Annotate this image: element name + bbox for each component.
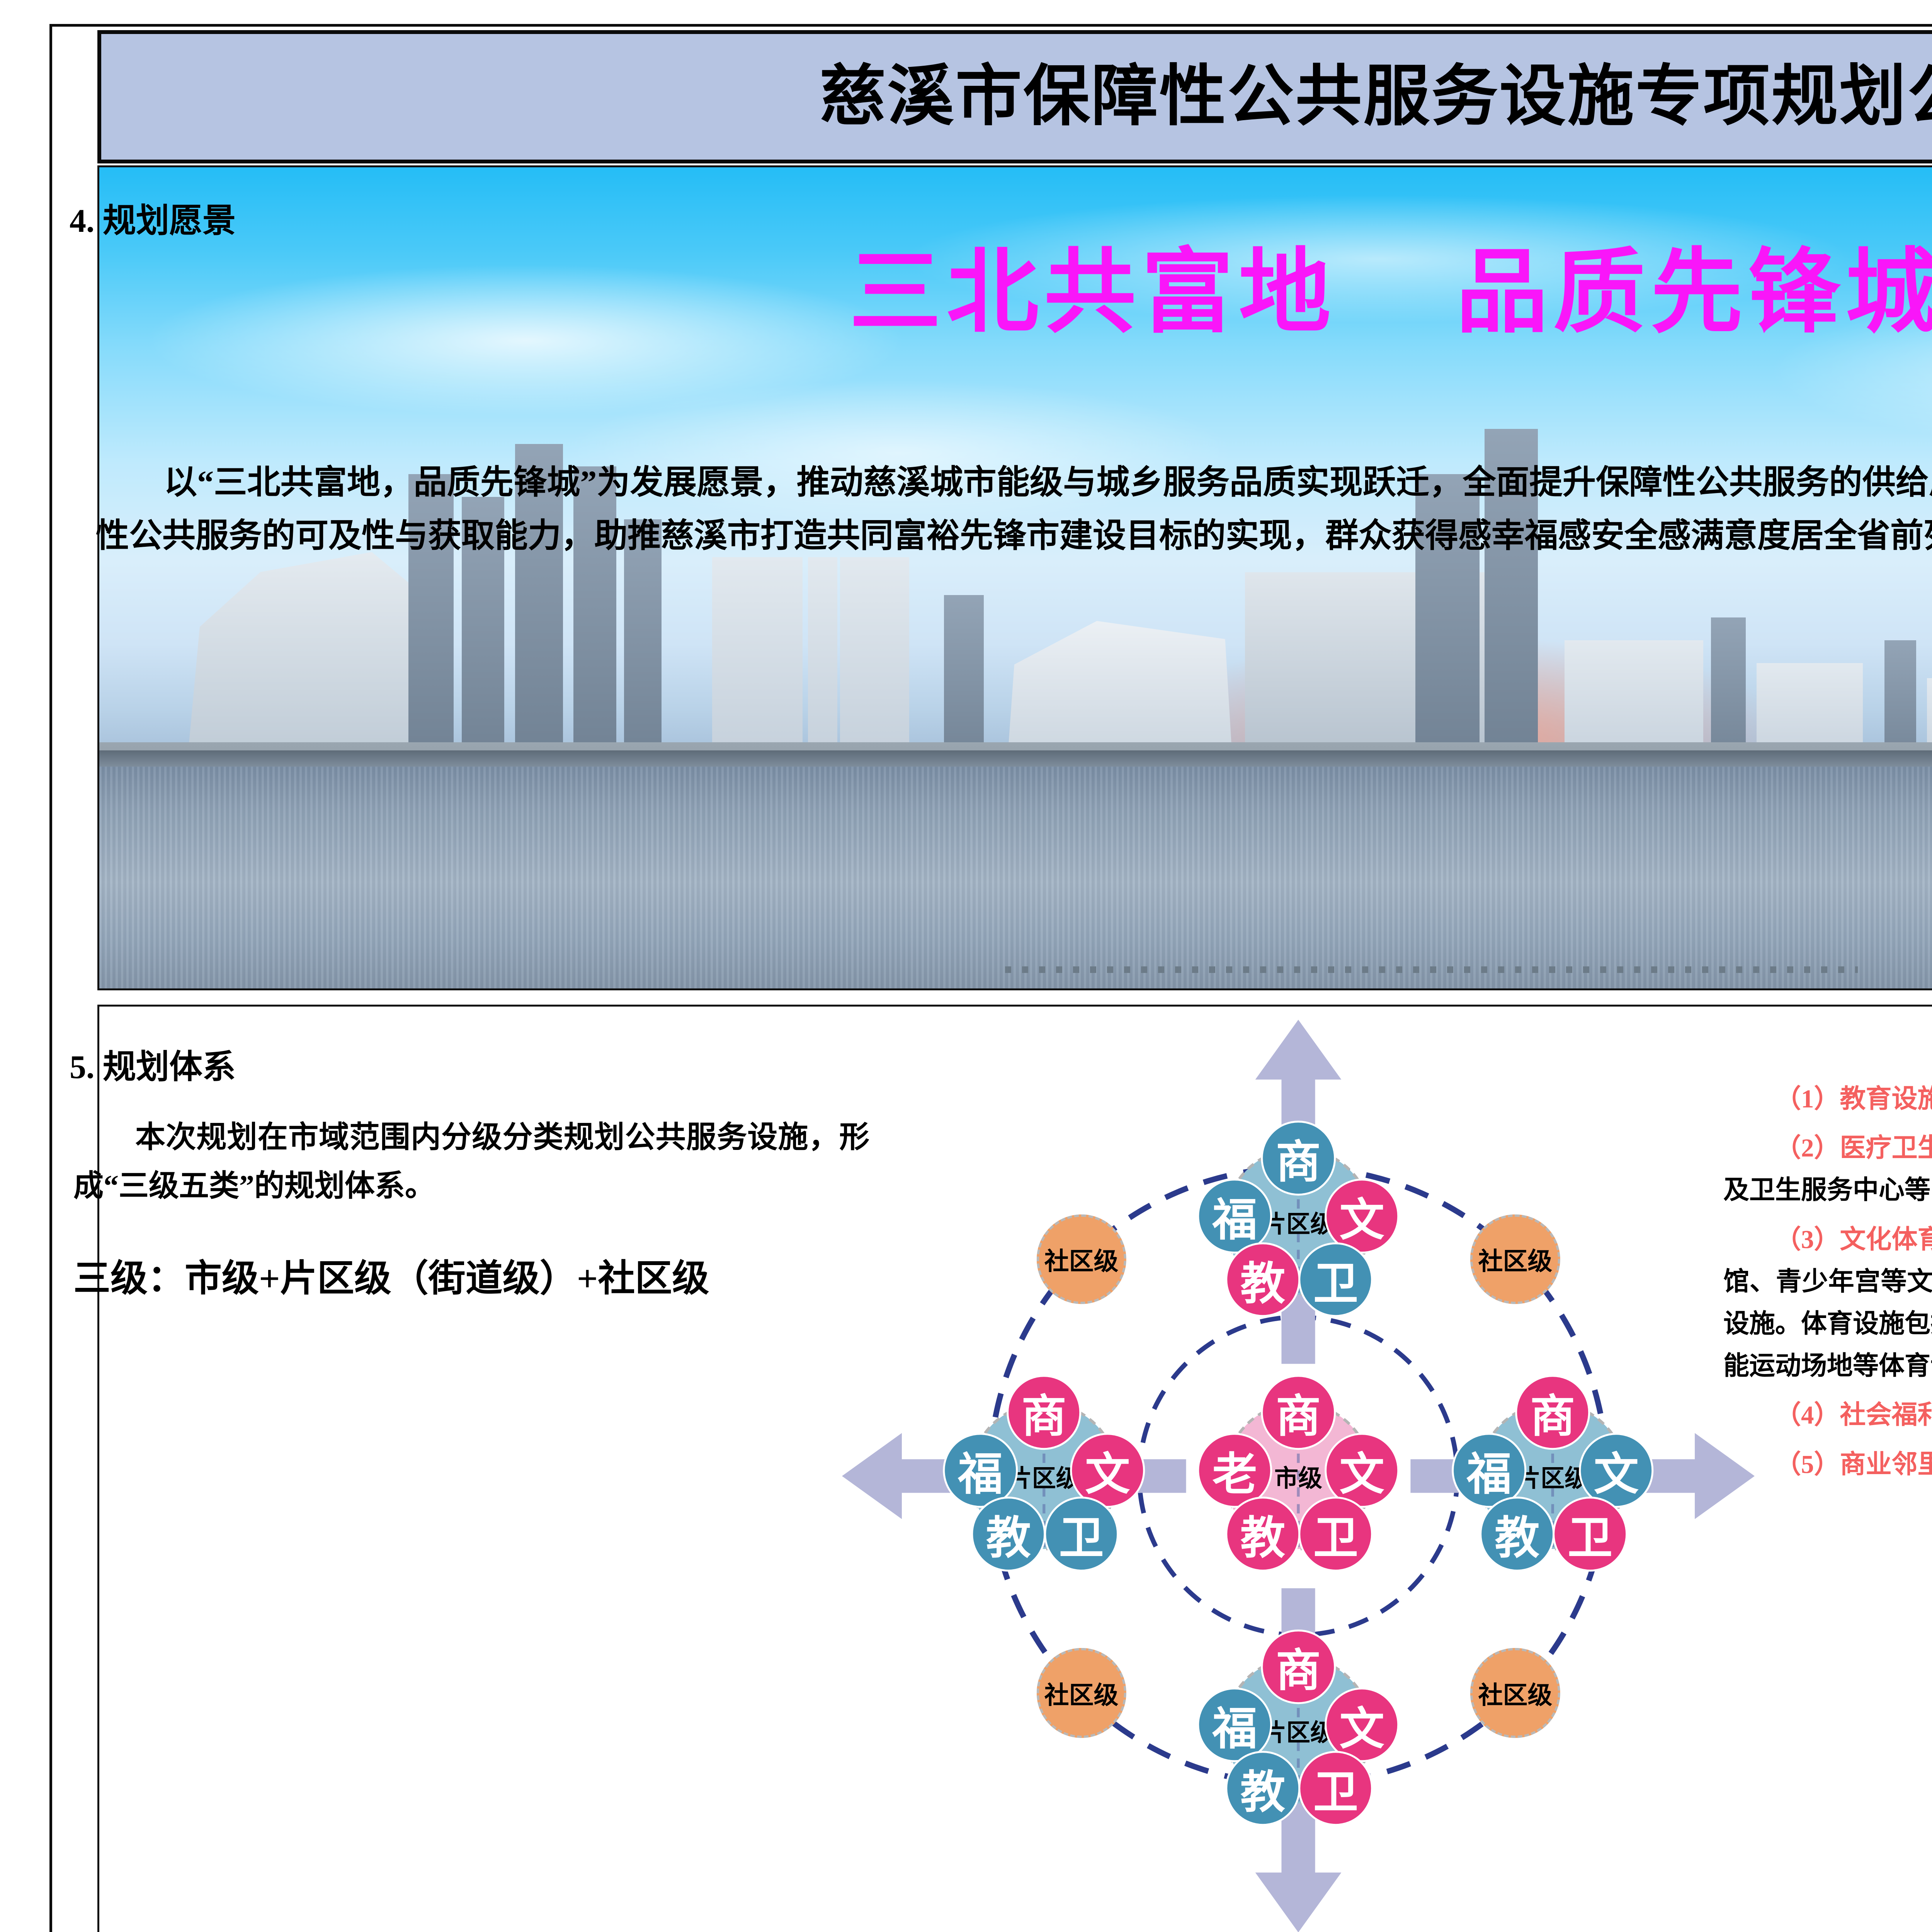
vision-slogan-left: 三北共富地 [849,242,1336,344]
facility-node-商[interactable]: 商 [1261,1629,1336,1704]
system-body-text: 本次规划在市域范围内分级分类规划公共服务设施，形成“三级五类”的规划体系。 [73,1113,869,1211]
facility-category-heading: （4）社会福利设施： [1775,1401,1932,1429]
facility-node-卫[interactable]: 卫 [1298,1751,1373,1826]
facility-category-heading: （1）教育设施： [1775,1085,1932,1113]
header-banner: 慈溪市保障性公共服务设施专项规划公示 [97,30,1932,163]
facility-category-heading: （2）医疗卫生设施： [1775,1134,1932,1162]
facility-node-卫[interactable]: 卫 [1553,1497,1628,1571]
community-level-node[interactable]: 社区级 [1036,1648,1126,1738]
facility-node-教[interactable]: 教 [971,1497,1046,1571]
river-water [99,767,1932,988]
floating-markers [1005,966,1857,973]
community-level-node[interactable]: 社区级 [1470,1648,1560,1738]
vision-body-text: 以“三北共富地，品质先锋城”为发展愿景，推动慈溪城市能级与城乡服务品质实现跃迁，… [96,456,1932,562]
facility-node-商[interactable]: 商 [1261,1121,1336,1196]
facility-node-卫[interactable]: 卫 [1044,1497,1119,1571]
community-level-node[interactable]: 社区级 [1470,1214,1560,1304]
facility-node-教[interactable]: 教 [1225,1497,1300,1571]
page-title: 慈溪市保障性公共服务设施专项规划公示 [820,64,1932,130]
vision-slogan-right: 品质先锋城 [1456,242,1932,344]
facility-category-heading: （3）文化体育设施： [1775,1225,1932,1254]
three-level-system-diagram: 市级商老文教卫片区级商福文教卫片区级商福文教卫片区级商福文教卫片区级商福文教卫社… [831,1009,1766,1932]
facility-node-商[interactable]: 商 [1007,1375,1082,1450]
poster-page: 慈溪市保障性公共服务设施专项规划公示 [0,0,1932,1932]
water-reflection [99,767,1932,988]
facility-node-教[interactable]: 教 [1225,1242,1300,1317]
community-level-node[interactable]: 社区级 [1036,1214,1126,1304]
facility-node-教[interactable]: 教 [1480,1497,1554,1571]
vision-slogan: 三北共富地品质先锋城 [0,247,1932,339]
facility-node-商[interactable]: 商 [1261,1375,1336,1450]
facility-node-卫[interactable]: 卫 [1298,1242,1373,1317]
system-levels-text: 三级：市级+片区级（街道级）+社区级 [73,1248,962,1302]
facility-node-卫[interactable]: 卫 [1298,1497,1373,1571]
water-edge [99,750,1932,767]
section-label-system: 5. 规划体系 [70,1039,236,1088]
facility-node-教[interactable]: 教 [1225,1751,1300,1826]
section-label-vision: 4. 规划愿景 [70,193,236,241]
facility-node-商[interactable]: 商 [1515,1375,1590,1450]
facility-category-heading: （5）商业邻里设施： [1775,1450,1932,1479]
